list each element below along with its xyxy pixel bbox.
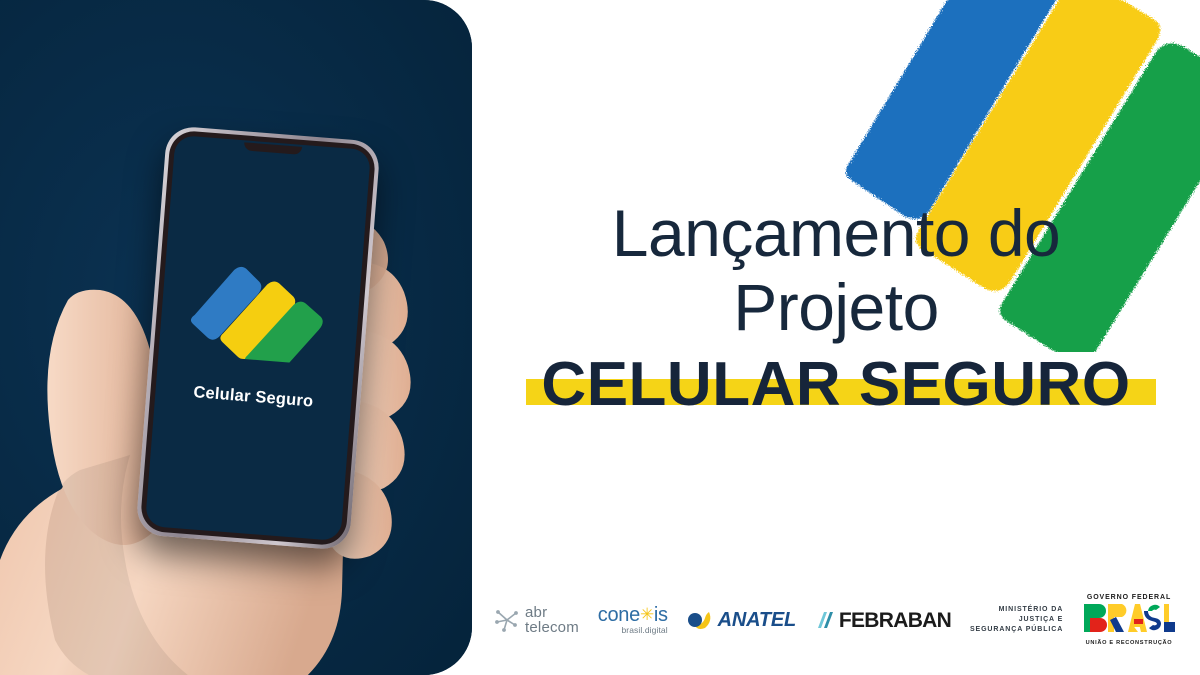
conexis-wordmark: cone✳is brasil.digital	[598, 605, 668, 635]
smartphone-mockup: Celular Seguro	[135, 125, 381, 551]
headline-block: Lançamento do Projeto CELULAR SEGURO	[472, 196, 1200, 418]
governo-federal-bottom-line: UNIÃO E RECONSTRUÇÃO	[1082, 639, 1176, 648]
logo-abr-telecom: abr telecom	[494, 605, 579, 635]
ministerio-wordmark: MINISTÉRIO DA JUSTIÇA E SEGURANÇA PÚBLIC…	[970, 605, 1063, 635]
governo-federal-top-line: GOVERNO FEDERAL	[1082, 593, 1176, 602]
conexis-tagline: brasil.digital	[598, 625, 668, 635]
headline-emphasis-wrap: CELULAR SEGURO	[472, 352, 1200, 418]
febraban-bars-icon	[815, 610, 834, 630]
headline-emphasis: CELULAR SEGURO	[472, 352, 1200, 418]
partner-logo-bar: abr telecom cone✳is brasil.digital ANATE…	[480, 591, 1190, 649]
brazil-brush-strokes-icon	[182, 258, 339, 365]
ministerio-line-1: MINISTÉRIO DA	[970, 605, 1063, 615]
logo-ministerio-justica: MINISTÉRIO DA JUSTIÇA E SEGURANÇA PÚBLIC…	[970, 605, 1063, 635]
logo-febraban: FEBRABAN	[815, 610, 951, 631]
left-dark-panel: Celular Seguro	[0, 0, 472, 675]
governo-federal-wordmark: GOVERNO FEDERAL	[1082, 593, 1176, 648]
logo-conexis: cone✳is brasil.digital	[598, 605, 668, 635]
logo-governo-federal: GOVERNO FEDERAL	[1082, 593, 1176, 648]
logo-anatel: ANATEL	[687, 609, 796, 631]
ministerio-line-2: JUSTIÇA E	[970, 615, 1063, 625]
ministerio-line-3: SEGURANÇA PÚBLICA	[970, 625, 1063, 635]
headline-line-2: Projeto	[472, 270, 1200, 344]
abr-telecom-wordmark: abr telecom	[525, 605, 579, 635]
conexis-part-2: is	[654, 604, 668, 626]
phone-app-name: Celular Seguro	[155, 380, 352, 414]
anatel-wordmark: ANATEL	[718, 610, 796, 630]
febraban-wordmark: FEBRABAN	[839, 610, 951, 631]
abr-starburst-icon	[494, 607, 520, 633]
promo-banner: Celular Seguro Lançamento do Projeto CEL…	[0, 0, 1200, 675]
brasil-wordmark-icon	[1082, 602, 1176, 634]
phone-screen: Celular Seguro	[145, 135, 371, 541]
headline-line-1: Lançamento do	[472, 196, 1200, 270]
conexis-main-line: cone✳is	[598, 605, 668, 625]
anatel-circle-icon	[687, 609, 713, 631]
conexis-part-1: cone	[598, 604, 640, 626]
abr-line-2: telecom	[525, 620, 579, 635]
conexis-star-icon: ✳	[640, 606, 654, 623]
phone-notch	[244, 142, 302, 155]
